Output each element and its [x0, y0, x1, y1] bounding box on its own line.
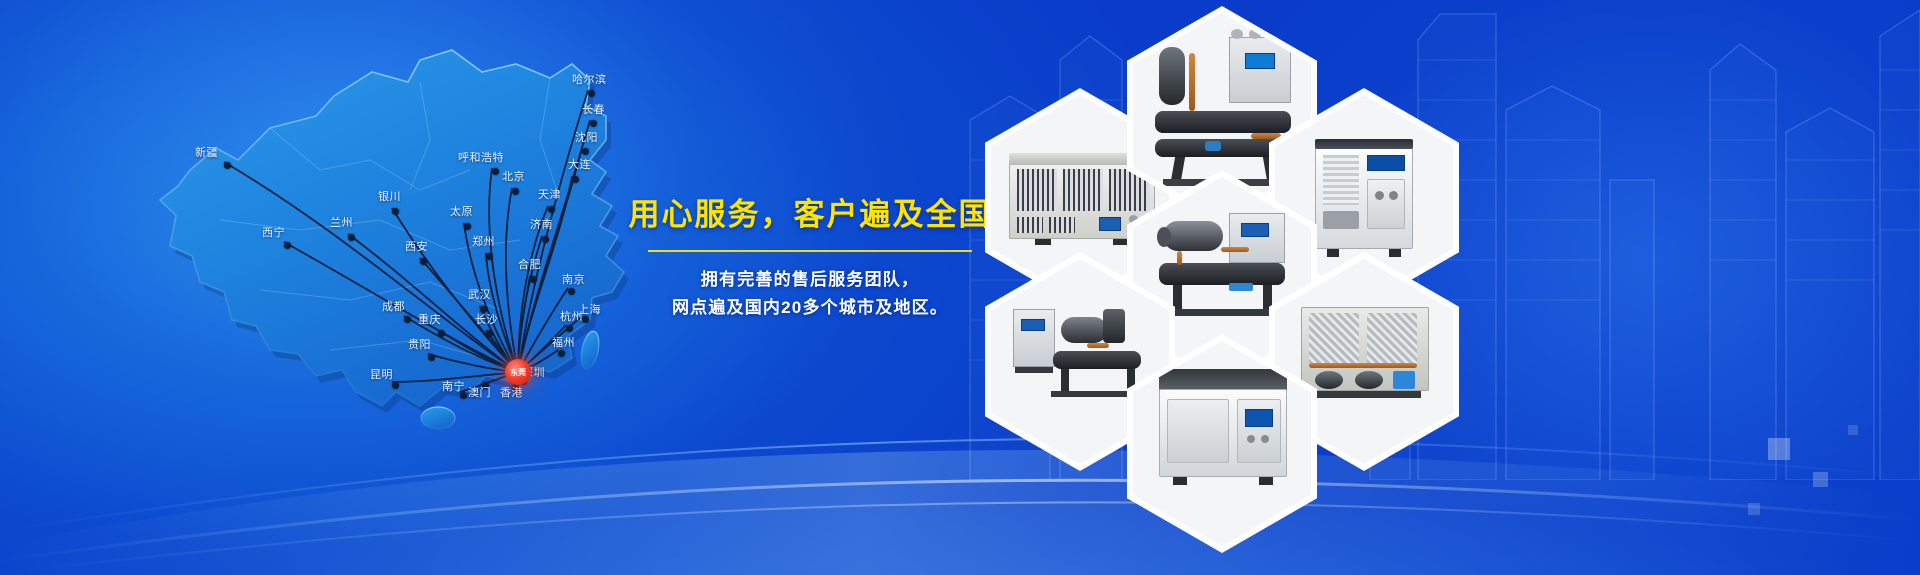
headline: 用心服务，客户遍及全国 — [620, 196, 1000, 233]
map-city-label-11: 兰州 — [330, 218, 353, 229]
map-city-label-26: 南宁 — [442, 382, 465, 393]
map-city-node-20[interactable] — [438, 330, 445, 337]
map-city-label-22: 杭州 — [560, 312, 583, 323]
map-city-node-14[interactable] — [486, 253, 493, 260]
map-city-node-21[interactable] — [486, 330, 493, 337]
map-city-node-16[interactable] — [568, 288, 575, 295]
map-city-node-6[interactable] — [572, 176, 579, 183]
map-city-label-18: 武汉 — [468, 290, 491, 301]
map-city-node-24[interactable] — [558, 350, 565, 357]
decor-square-2 — [1813, 472, 1828, 487]
map-hub-marker-dongguan[interactable]: 东莞 — [505, 359, 531, 385]
map-city-node-2[interactable] — [590, 120, 597, 127]
decor-square-1 — [1768, 438, 1790, 460]
map-city-node-25[interactable] — [392, 382, 399, 389]
map-city-node-4[interactable] — [492, 168, 499, 175]
map-city-label-23: 贵阳 — [408, 340, 431, 351]
map-city-node-19[interactable] — [404, 316, 411, 323]
map-city-label-6: 大连 — [568, 160, 591, 171]
divider-line — [648, 250, 972, 252]
map-city-label-14: 郑州 — [472, 237, 495, 248]
map-city-label-2: 长春 — [582, 105, 605, 116]
map-city-node-0[interactable] — [224, 162, 231, 169]
map-city-label-25: 昆明 — [370, 370, 393, 381]
map-city-node-9[interactable] — [464, 223, 471, 230]
product-hexagon-cluster — [975, 0, 1535, 460]
map-city-label-28: 香港 — [500, 388, 523, 399]
map-city-label-16: 南京 — [562, 275, 585, 286]
map-city-node-18[interactable] — [480, 306, 487, 313]
map-city-node-22[interactable] — [566, 325, 573, 332]
map-city-label-3: 沈阳 — [575, 133, 598, 144]
map-city-node-10[interactable] — [542, 236, 549, 243]
map-city-node-5[interactable] — [512, 188, 519, 195]
map-city-node-11[interactable] — [348, 234, 355, 241]
banner-copy: 用心服务，客户遍及全国 拥有完善的售后服务团队， 网点遍及国内20多个城市及地区… — [620, 196, 1000, 321]
map-city-node-26[interactable] — [460, 392, 467, 399]
map-city-node-8[interactable] — [392, 208, 399, 215]
map-city-node-23[interactable] — [428, 354, 435, 361]
map-city-label-8: 银川 — [378, 192, 401, 203]
map-city-node-3[interactable] — [582, 148, 589, 155]
map-city-label-7: 天津 — [538, 190, 561, 201]
map-city-label-29: 澳门 — [468, 388, 491, 399]
subtitle-line-1: 拥有完善的售后服务团队， — [620, 266, 1000, 294]
map-city-label-15: 合肥 — [518, 260, 541, 271]
map-city-label-12: 西宁 — [262, 228, 285, 239]
map-city-label-9: 太原 — [450, 207, 473, 218]
map-hub-label: 东莞 — [510, 367, 526, 378]
subtitle-line-2: 网点遍及国内20多个城市及地区。 — [620, 294, 1000, 322]
decor-square-3 — [1748, 503, 1760, 515]
product-photo-box-type-water-chiller — [1133, 341, 1311, 546]
map-city-node-17[interactable] — [582, 316, 589, 323]
map-city-node-13[interactable] — [420, 258, 427, 265]
map-city-label-19: 成都 — [382, 302, 405, 313]
map-city-label-24: 福州 — [552, 338, 575, 349]
map-city-label-5: 北京 — [502, 172, 525, 183]
map-city-node-12[interactable] — [284, 242, 291, 249]
map-city-label-10: 济南 — [530, 220, 553, 231]
map-city-label-1: 哈尔滨 — [572, 75, 607, 86]
promo-banner: 新疆哈尔滨长春沈阳呼和浩特北京大连天津银川太原济南兰州西宁西安郑州合肥南京上海武… — [0, 0, 1920, 575]
map-city-label-4: 呼和浩特 — [458, 153, 504, 164]
decor-square-4 — [1848, 425, 1858, 435]
map-city-label-13: 西安 — [405, 242, 428, 253]
map-city-node-15[interactable] — [530, 276, 537, 283]
map-city-node-7[interactable] — [548, 206, 555, 213]
map-city-label-0: 新疆 — [195, 148, 218, 159]
map-city-node-1[interactable] — [588, 90, 595, 97]
map-city-label-21: 长沙 — [475, 315, 498, 326]
map-city-label-20: 重庆 — [418, 315, 441, 326]
